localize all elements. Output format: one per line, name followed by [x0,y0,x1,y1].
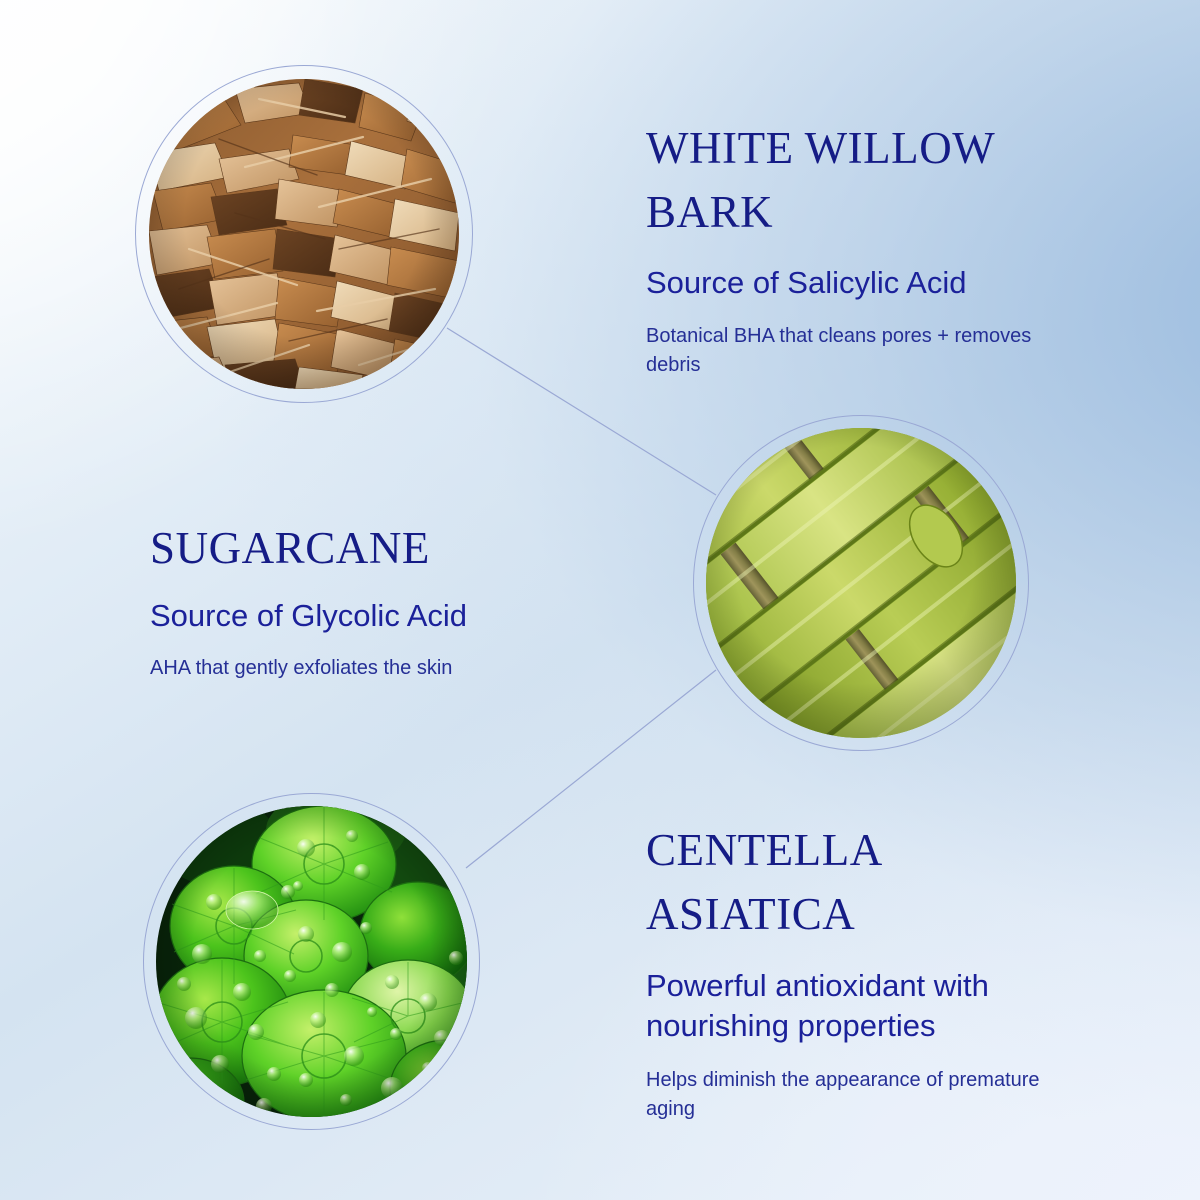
ingredient-text-white-willow-bark: WHITE WILLOW BARK Source of Salicylic Ac… [646,116,1076,379]
ingredient-image-centella-asiatica [143,793,480,1130]
ingredient-description-centella-asiatica: Helps diminish the appearance of prematu… [646,1066,1086,1123]
white-willow-bark-photo [149,79,459,389]
centella-asiatica-photo [156,806,467,1117]
ingredient-image-white-willow-bark [135,65,473,403]
ingredient-title-centella-asiatica: CENTELLA ASIATICA [646,818,1086,946]
ingredient-image-sugarcane [693,415,1029,751]
ingredient-title-white-willow-bark: WHITE WILLOW BARK [646,116,1076,244]
ingredient-subtitle-sugarcane: Source of Glycolic Acid [150,596,580,636]
sugarcane-photo [706,428,1016,738]
ingredient-infographic: WHITE WILLOW BARK Source of Salicylic Ac… [0,0,1200,1200]
ingredient-description-white-willow-bark: Botanical BHA that cleans pores + remove… [646,322,1076,379]
ingredient-subtitle-centella-asiatica: Powerful antioxidant with nourishing pro… [646,966,1086,1046]
ingredient-text-centella-asiatica: CENTELLA ASIATICA Powerful antioxidant w… [646,818,1086,1123]
ingredient-title-sugarcane: SUGARCANE [150,518,580,578]
ingredient-description-sugarcane: AHA that gently exfoliates the skin [150,654,580,683]
ingredient-text-sugarcane: SUGARCANE Source of Glycolic Acid AHA th… [150,518,580,683]
ingredient-subtitle-white-willow-bark: Source of Salicylic Acid [646,263,1076,303]
